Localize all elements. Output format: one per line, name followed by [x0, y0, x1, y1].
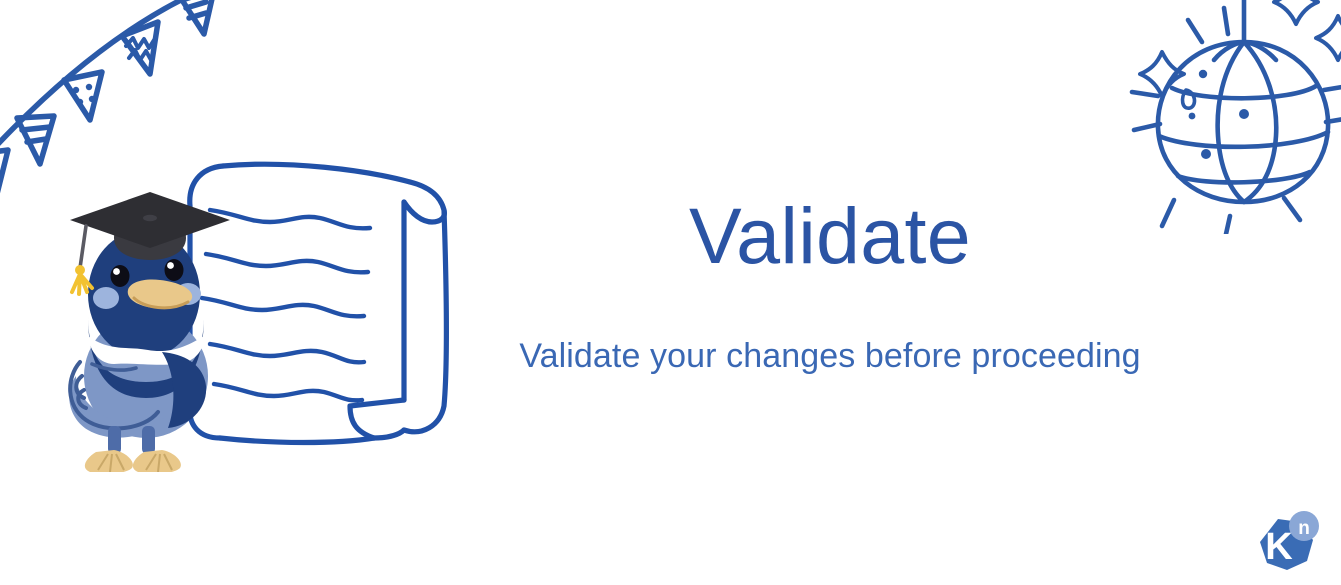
mascot-bird-icon	[58, 186, 234, 472]
page-subtitle: Validate your changes before proceeding	[440, 339, 1220, 373]
scroll-document-icon	[178, 138, 470, 460]
slide-canvas: Validate Validate your changes before pr…	[0, 0, 1341, 585]
brand-secondary-letter: n	[1298, 518, 1310, 539]
page-title: Validate	[440, 196, 1220, 275]
text-block: Validate Validate your changes before pr…	[440, 196, 1220, 373]
bunting-flags-icon	[0, 0, 232, 194]
brand-primary-letter: K	[1265, 526, 1293, 568]
brand-logo-icon: K n	[1249, 505, 1323, 579]
